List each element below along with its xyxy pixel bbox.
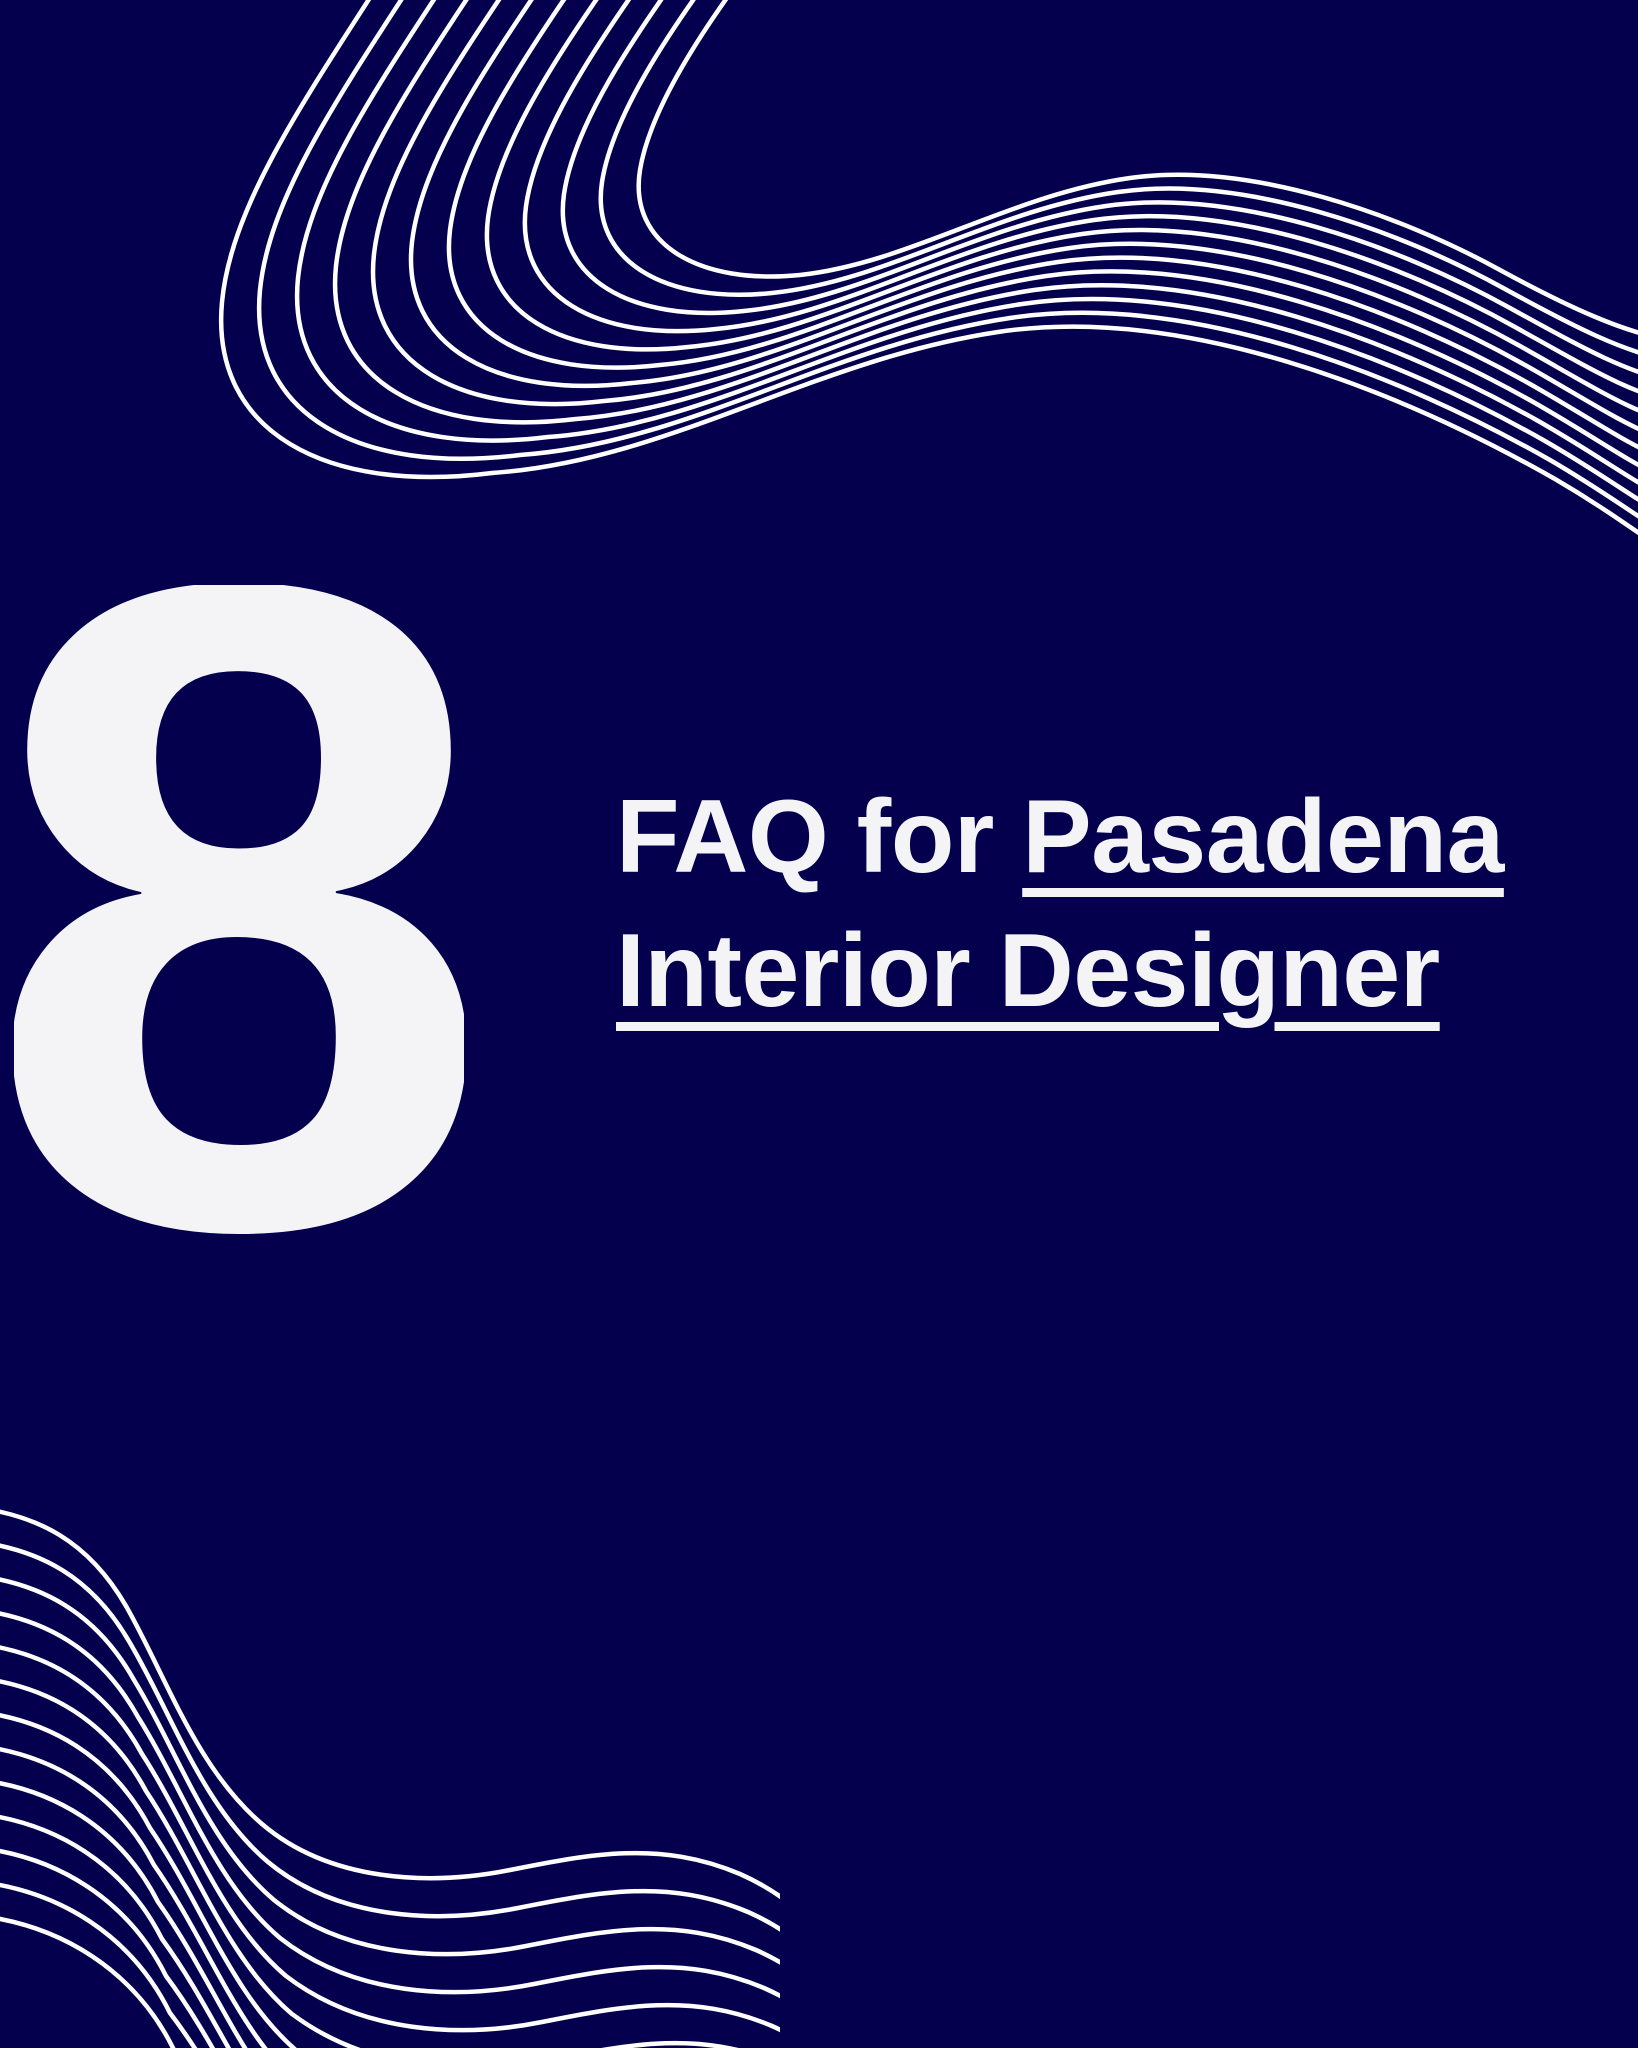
headline-line-1: FAQ for Pasadena [616,770,1622,904]
headline-prefix: FAQ for [616,779,1022,895]
numeral-eight-glyph: 8 [14,585,464,1375]
headline-line-2: Interior Designer [616,904,1622,1038]
poster-canvas: 8 FAQ for Pasadena Interior Designer [0,0,1638,2048]
top-right-wave-lines [0,0,1638,560]
headline-profession: Interior Designer [616,913,1440,1029]
page-title: FAQ for Pasadena Interior Designer [616,770,1622,1038]
headline-location: Pasadena [1022,779,1504,895]
bottom-left-wave-lines [0,1488,780,2048]
numeral-eight: 8 [14,585,464,1375]
